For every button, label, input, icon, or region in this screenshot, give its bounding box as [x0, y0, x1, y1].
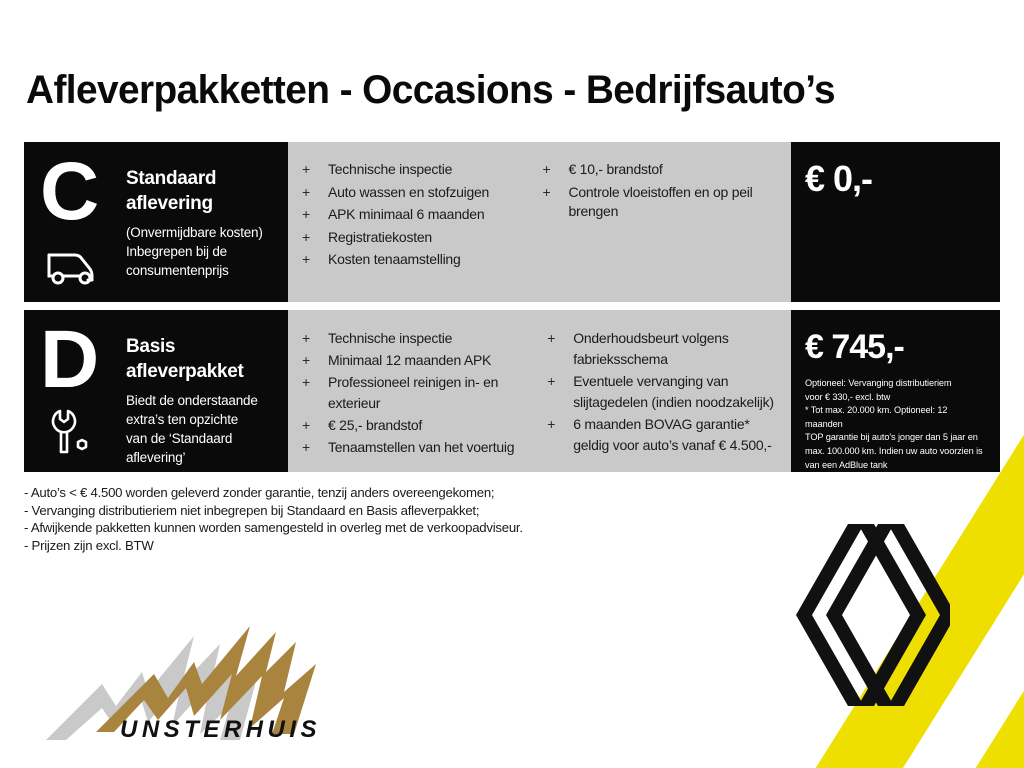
features-column-right: + Onderhoudsbeurt volgens fabrieksschema… — [547, 328, 783, 462]
plus-icon: + — [302, 250, 328, 270]
plus-icon: + — [302, 183, 328, 203]
feature-item: + Technische inspectie — [302, 160, 543, 180]
package-subtitle-line2: Inbegrepen bij de — [126, 242, 263, 261]
package-subtitle-line1: Biedt de onderstaande — [126, 391, 258, 410]
feature-item: + APK minimaal 6 maanden — [302, 205, 543, 225]
plus-icon: + — [543, 160, 569, 180]
package-row-basis: D Basis afleverpakket Biedt de onderstaa… — [24, 310, 1000, 472]
feature-item: + 6 maanden BOVAG garantie* geldig voor … — [547, 414, 783, 456]
plus-icon: + — [547, 371, 573, 413]
feature-item: + Minimaal 12 maanden APK — [302, 350, 547, 371]
feature-item: + Technische inspectie — [302, 328, 547, 349]
footnotes: - Auto’s < € 4.500 worden geleverd zonde… — [24, 484, 523, 554]
plus-icon: + — [302, 328, 328, 349]
package-features-standaard: + Technische inspectie + Auto wassen en … — [288, 142, 791, 302]
munsterhuis-wordmark: UNSTERHUIS — [120, 716, 321, 744]
package-header-basis: D Basis afleverpakket Biedt de onderstaa… — [24, 310, 288, 472]
munsterhuis-logo: UNSTERHUIS — [44, 622, 344, 762]
van-icon — [46, 251, 100, 292]
package-features-basis: + Technische inspectie + Minimaal 12 maa… — [288, 310, 791, 472]
plus-icon: + — [302, 350, 328, 371]
package-price-basis: € 745,- Optioneel: Vervanging distributi… — [791, 310, 1000, 472]
features-column-left: + Technische inspectie + Auto wassen en … — [302, 160, 543, 292]
plus-icon: + — [547, 414, 573, 456]
infographic-page: Afleverpakketten - Occasions - Bedrijfsa… — [0, 0, 1024, 768]
plus-icon: + — [302, 160, 328, 180]
plus-icon: + — [302, 372, 328, 414]
feature-item: + € 10,- brandstof — [543, 160, 784, 180]
renault-diamond-icon — [790, 520, 950, 710]
package-heading-line1: Basis — [126, 334, 258, 359]
footnote-item: - Auto’s < € 4.500 worden geleverd zonde… — [24, 484, 523, 502]
feature-item: + Onderhoudsbeurt volgens fabrieksschema — [547, 328, 783, 370]
plus-icon: + — [302, 228, 328, 248]
package-subtitle-line3: consumentenprijs — [126, 261, 263, 280]
plus-icon: + — [302, 205, 328, 225]
package-header-standaard: C Standaard aflevering (Onvermijdbare ko… — [24, 142, 288, 302]
wrench-icon — [46, 407, 96, 462]
footnote-item: - Vervanging distributieriem niet inbegr… — [24, 502, 523, 520]
package-subtitle-line4: aflevering’ — [126, 448, 258, 467]
feature-item: + Controle vloeistoffen en op peil breng… — [543, 183, 784, 222]
package-subtitle-line3: van de ‘Standaard — [126, 429, 258, 448]
package-row-standaard: C Standaard aflevering (Onvermijdbare ko… — [24, 142, 1000, 302]
package-heading-line2: aflevering — [126, 191, 263, 216]
plus-icon: + — [547, 328, 573, 370]
features-column-right: + € 10,- brandstof + Controle vloeistoff… — [543, 160, 784, 292]
page-title: Afleverpakketten - Occasions - Bedrijfsa… — [26, 68, 835, 113]
package-subtitle-line1: (Onvermijdbare kosten) — [126, 223, 263, 242]
feature-item: + Registratiekosten — [302, 228, 543, 248]
feature-item: + Professioneel reinigen in- en exterieu… — [302, 372, 547, 414]
package-price-standaard: € 0,- — [791, 142, 1000, 302]
package-subtitle-line2: extra’s ten opzichte — [126, 410, 258, 429]
feature-item: + € 25,- brandstof — [302, 415, 547, 436]
features-column-left: + Technische inspectie + Minimaal 12 maa… — [302, 328, 547, 462]
feature-item: + Eventuele vervanging van slijtagedelen… — [547, 371, 783, 413]
plus-icon: + — [543, 183, 569, 222]
package-heading-line1: Standaard — [126, 166, 263, 191]
plus-icon: + — [302, 437, 328, 458]
renault-logo — [790, 520, 960, 720]
footnote-item: - Prijzen zijn excl. BTW — [24, 537, 523, 555]
footnote-item: - Afwijkende pakketten kunnen worden sam… — [24, 519, 523, 537]
feature-item: + Tenaamstellen van het voertuig — [302, 437, 547, 458]
price-value: € 0,- — [805, 158, 986, 200]
price-value: € 745,- — [805, 326, 986, 368]
price-fineprint: Optioneel: Vervanging distributieriem vo… — [805, 377, 986, 472]
package-heading-line2: afleverpakket — [126, 359, 258, 384]
feature-item: + Kosten tenaamstelling — [302, 250, 543, 270]
feature-item: + Auto wassen en stofzuigen — [302, 183, 543, 203]
plus-icon: + — [302, 415, 328, 436]
